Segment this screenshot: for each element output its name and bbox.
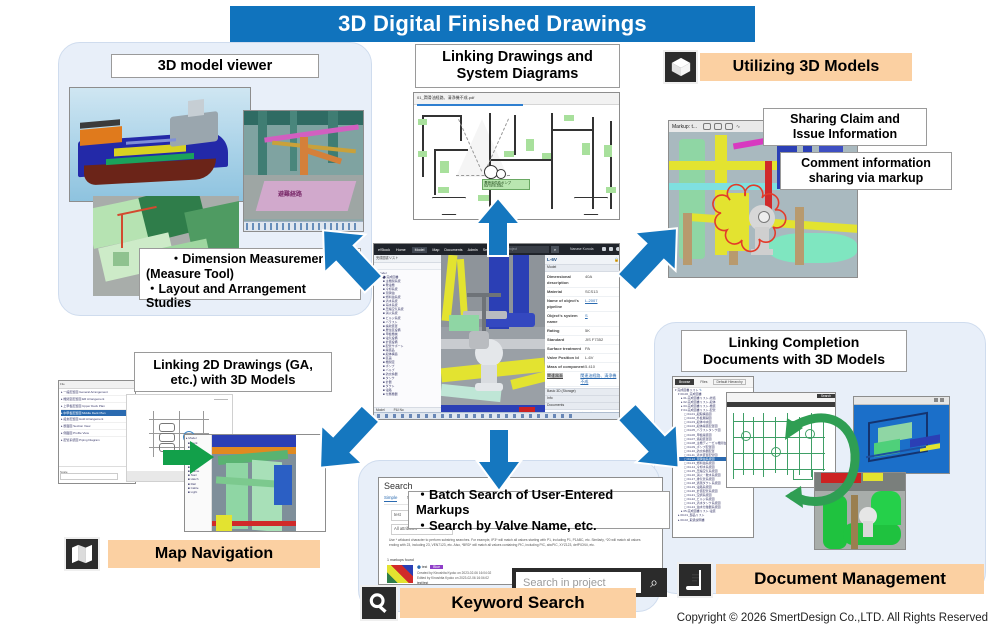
diagram-tab-label: 01_潤滑油経路、清浄機不成.pdf (417, 95, 474, 101)
badge-document-management[interactable]: Document Management (716, 564, 984, 594)
prop-value-9[interactable]: 関連油経路、清浄機不成 (580, 373, 619, 385)
caption-completion-docs-l2: Documents with 3D Models (703, 351, 885, 368)
badge-map-navigation[interactable]: Map Navigation (108, 540, 320, 568)
prop-value-1: SCS13 (585, 289, 598, 295)
app-section-info[interactable]: Info (545, 396, 620, 403)
search-result-badge: Blue (430, 565, 443, 569)
app-properties-list: Dimensional description 40A Material SCS… (545, 272, 620, 388)
caption-linking-completion-docs: Linking Completion Documents with 3D Mod… (681, 330, 907, 372)
ga-drawing-list-window: File ▸ 一般配置図 General Arrangement ▸ 機関室配置… (58, 380, 136, 484)
app-section-documents[interactable]: Documents (545, 403, 620, 410)
callout-sharing-claim-l1: Sharing Claim and (790, 112, 900, 127)
prop-label-9: 関連図面 (547, 373, 580, 385)
evacuation-route-label: 避難経路 (278, 189, 302, 198)
badge-map-navigation-label: Map Navigation (108, 545, 320, 563)
callout-sharing-claim-l2: Issue Information (793, 127, 897, 142)
prop-label-3: Object's system name (547, 313, 585, 325)
search-panel-title: Search (384, 481, 413, 491)
prop-label-8: Mass of component (547, 364, 585, 370)
prop-value-7: L-6V (585, 355, 593, 361)
prop-value-6: PA (585, 346, 590, 352)
cube-icon (663, 50, 698, 84)
search-result-edited: Edited by Kinoshita Kyoko on 2023-02-06 … (417, 576, 489, 580)
caption-linking-2d-l1: Linking 2D Drawings (GA, (153, 357, 313, 372)
doc-tab-default-hierarchy[interactable]: Default Hierarchy (713, 379, 745, 385)
prop-label-0: Dimensional description (547, 274, 585, 286)
search-field-value[interactable]: test (394, 512, 401, 517)
copyright-text: Copyright © 2026 SmertDesign Co.,LTD. Al… (677, 612, 988, 624)
green-arrow-2d-to-3d (163, 441, 215, 475)
bullet-measure-tool: (Measure Tool) (146, 267, 234, 282)
caption-linking-drawings: Linking Drawings and System Diagrams (415, 44, 620, 88)
document-3d-model-window (853, 396, 950, 474)
app-menu-home[interactable]: Home (396, 248, 406, 252)
page-title: 3D Digital Finished Drawings (230, 6, 755, 42)
caption-completion-docs-l1: Linking Completion (729, 334, 860, 351)
caption-linking-2d-drawings: Linking 2D Drawings (GA, etc.) with 3D M… (134, 352, 332, 392)
markup-window-title: Markup: t... (672, 124, 697, 130)
prop-value-5: JIS F7352 (585, 337, 603, 343)
prop-value-2[interactable]: L-2007 (585, 298, 597, 310)
badge-keyword-search-label: Keyword Search (400, 593, 636, 613)
doc-tab-files[interactable]: Files (700, 380, 707, 384)
caption-3d-model-viewer: 3D model viewer (111, 54, 319, 78)
prop-value-4: 5K (585, 328, 590, 334)
green-circular-arrow-doc-to-3d (767, 400, 863, 520)
badge-keyword-search[interactable]: Keyword Search (400, 588, 636, 618)
center-app-window: e!Stock Home Model Map Documents Admin S… (373, 243, 620, 420)
search-result-tag: test (422, 565, 427, 569)
search-result-created: Created by Kinoshita Kyoko on 2023-02-06… (417, 571, 491, 575)
diagram-pump-spec: 50/75×5 20kL (484, 184, 503, 188)
bullet-search-valve: ・Search by Valve Name, etc. (416, 518, 597, 533)
caption-linking-drawings-l1: Linking Drawings and (442, 49, 593, 66)
search-result-thumbnail[interactable] (387, 565, 413, 583)
callout-comment-markup-l1: Comment information (801, 156, 931, 171)
caption-linking-drawings-l2: System Diagrams (457, 66, 579, 83)
prop-label-1: Material (547, 289, 585, 295)
app-section-model[interactable]: Model (545, 265, 620, 272)
search-results-count: 1 markups found (387, 558, 414, 562)
search-in-project-placeholder: Search in project (523, 577, 606, 589)
search-tab-simple[interactable]: Simple (384, 495, 397, 502)
ship-3d-render (69, 87, 251, 202)
arrow-center-to-top-left (311, 218, 387, 298)
app-search-icon[interactable]: ⌕ (551, 246, 559, 253)
badge-document-management-label: Document Management (716, 569, 984, 589)
prop-label-7: Valve Position Id (547, 355, 585, 361)
prop-label-2: Name of object's pipeline (547, 298, 585, 310)
app-panel-title: L-6V (547, 257, 557, 262)
arrow-center-to-bottom-left (307, 400, 385, 480)
prop-label-6: Surface treatment (547, 346, 585, 352)
caption-linking-2d-l2: etc.) with 3D Models (171, 372, 296, 387)
doc-tab-browse[interactable]: Browse (675, 379, 694, 385)
magnifier-icon (360, 585, 398, 621)
callout-comment-markup-l2: sharing via markup (809, 171, 924, 186)
prop-label-5: Standard (547, 337, 585, 343)
poster-root: 3D Digital Finished Drawings (0, 0, 1000, 628)
arrow-center-to-top-center (474, 196, 522, 258)
callout-sharing-claim: Sharing Claim and Issue Information (763, 108, 927, 146)
map-icon (64, 537, 100, 571)
arrow-center-to-bottom-center (475, 425, 523, 493)
bullet-dimension-measurement: ・Dimension Measurement (170, 252, 330, 267)
app-user-name[interactable]: Nanase Kuroda (570, 247, 594, 251)
search-result-body: test/test (417, 581, 428, 585)
arrow-center-to-top-right (612, 216, 690, 296)
app-section-basic3d[interactable]: Basic 3D (Storage) (545, 388, 620, 396)
prop-value-0: 40A (585, 274, 592, 286)
badge-utilizing-3d-models-label: Utilizing 3D Models (700, 58, 912, 76)
arrow-center-to-bottom-right (612, 398, 692, 480)
prop-value-8: 5.410 (585, 364, 595, 370)
app-menu-map[interactable]: Map (432, 248, 439, 252)
callout-comment-markup: Comment information sharing via markup (780, 152, 952, 190)
app-menu-model[interactable]: Model (412, 247, 428, 253)
app-menu-documents[interactable]: Documents (444, 248, 462, 252)
bullet-batch-search: ・Batch Search of User-Entered Markups (416, 487, 662, 518)
book-icon (677, 562, 713, 598)
search-submit-icon[interactable]: ⌕ (641, 574, 667, 591)
search-help-text: Use * wildcard character to perform subs… (389, 538, 647, 548)
prop-value-3[interactable]: S (585, 313, 588, 325)
callout-search-bullets: ・Batch Search of User-Entered Markups ・S… (408, 491, 670, 529)
badge-utilizing-3d-models[interactable]: Utilizing 3D Models (700, 53, 912, 81)
prop-label-4: Rating (547, 328, 585, 334)
piping-interior-render: 避難経路 (243, 110, 364, 232)
